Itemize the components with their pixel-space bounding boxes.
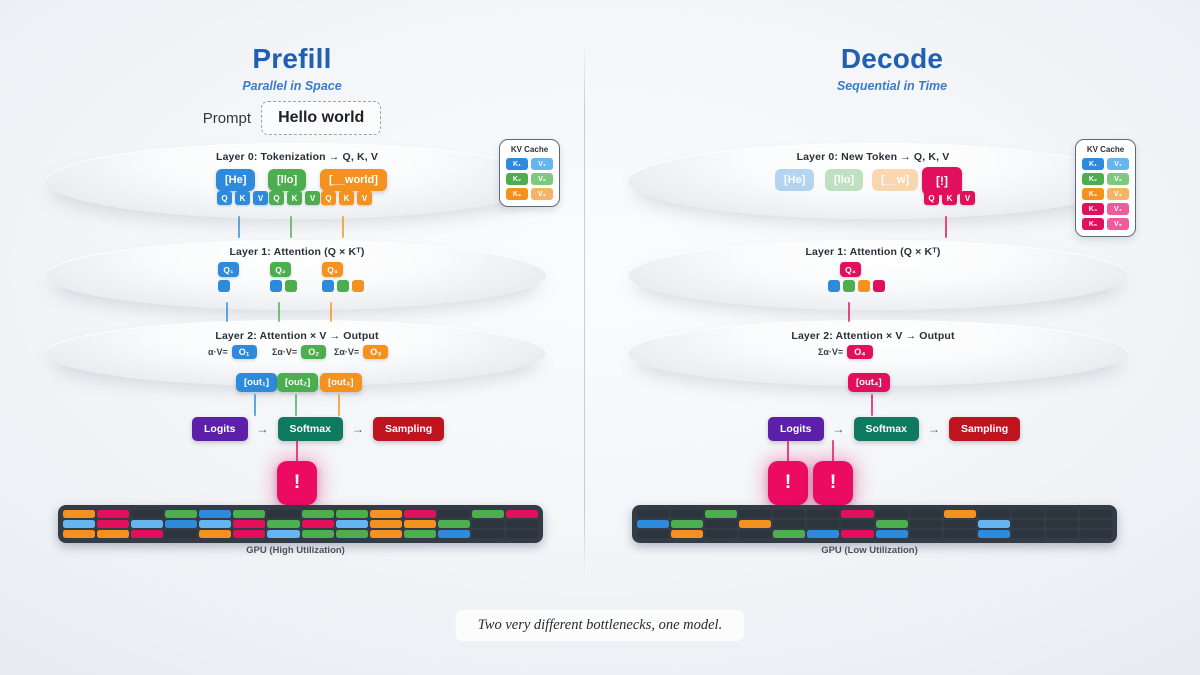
output-prefix-1: Σα·V= — [272, 347, 297, 357]
output-chip-new: O₄ — [847, 345, 872, 359]
gpu-column — [876, 510, 908, 538]
kv-cache-title: KV Cache — [1082, 145, 1129, 154]
gpu-cell — [131, 520, 163, 528]
gpu-cell — [267, 530, 299, 538]
gpu-cell — [807, 510, 839, 518]
gpu-cell — [978, 510, 1010, 518]
gpu-cell — [1012, 520, 1044, 528]
gpu-cell — [506, 530, 538, 538]
gpu-column — [131, 510, 163, 538]
gpu-cell — [506, 510, 538, 518]
past-token-2: [__w] — [872, 169, 918, 191]
attention-cell-new-1 — [843, 280, 855, 292]
gpu-cell — [370, 520, 402, 528]
kv-value-cell-0: V₁ — [531, 158, 553, 170]
gpu-cell — [336, 510, 368, 518]
gpu-cell — [978, 530, 1010, 538]
gpu-cell — [165, 510, 197, 518]
kv-value-cell-1: V₂ — [531, 173, 553, 185]
gpu-cell — [910, 530, 942, 538]
kv-key-cell-2: K₃ — [506, 188, 528, 200]
pipeline-softmax-button[interactable]: Softmax — [854, 417, 919, 441]
gpu-cell — [1046, 510, 1078, 518]
gpu-cell — [233, 520, 265, 528]
connector-out-1 — [295, 394, 297, 416]
gpu-cell — [910, 520, 942, 528]
gpu-column — [705, 510, 737, 538]
gpu-cell — [199, 530, 231, 538]
query-new: Q₄ — [840, 262, 861, 277]
qkv-v-new: V — [960, 191, 975, 205]
emitted-token-1: ! — [813, 461, 853, 505]
gpu-cell — [302, 510, 334, 518]
panel-divider — [584, 42, 585, 578]
gpu-label-decode: GPU (Low Utilization) — [620, 545, 1119, 556]
gpu-cell — [1046, 530, 1078, 538]
gpu-column — [1012, 510, 1044, 538]
connector-out-new — [871, 394, 873, 416]
gpu-column — [472, 510, 504, 538]
gpu-cell — [1012, 510, 1044, 518]
pipeline: Logits→Softmax→Sampling — [768, 417, 1020, 441]
footer-caption: Two very different bottlenecks, one mode… — [456, 610, 744, 641]
gpu-cell — [472, 520, 504, 528]
kv-value-cell-0: V₁ — [1107, 158, 1129, 170]
gpu-cell — [739, 510, 771, 518]
gpu-cell — [472, 530, 504, 538]
output-prefix-2: Σα·V= — [334, 347, 359, 357]
output-chip-0: O₁ — [232, 345, 257, 359]
gpu-cell — [165, 520, 197, 528]
gpu-column — [233, 510, 265, 538]
output-calc-0: α·V=O₁ — [208, 345, 257, 359]
attention-cell-new-3 — [873, 280, 885, 292]
qkv-k-1: K — [287, 191, 302, 205]
gpu-cell — [773, 510, 805, 518]
gpu-column — [302, 510, 334, 538]
gpu-cell — [131, 510, 163, 518]
query-0: Q₁ — [218, 262, 239, 277]
pipeline-arrow-1: → — [257, 422, 269, 436]
diagram-canvas: PrefillParallel in SpacePromptHello worl… — [0, 0, 1200, 675]
gpu-cell — [370, 510, 402, 518]
token-1[interactable]: [llo] — [268, 169, 306, 191]
connector-softmax-emit — [296, 440, 298, 462]
gpu-cell — [63, 530, 95, 538]
pipeline-sampling-button[interactable]: Sampling — [949, 417, 1020, 441]
gpu-cell — [1080, 520, 1112, 528]
attention-cell-2-1 — [337, 280, 349, 292]
qkv-k-new: K — [942, 191, 957, 205]
pipeline-sampling-button[interactable]: Sampling — [373, 417, 444, 441]
gpu-cell — [267, 520, 299, 528]
output-calc-2: Σα·V=O₃ — [334, 345, 388, 359]
token-2[interactable]: [__world] — [320, 169, 387, 191]
gpu-cell — [807, 520, 839, 528]
column-title-decode: Decode — [600, 43, 1184, 75]
gpu-cell — [944, 520, 976, 528]
gpu-column — [978, 510, 1010, 538]
gpu-cell — [506, 520, 538, 528]
gpu-column — [841, 510, 873, 538]
gpu-bar-prefill — [58, 505, 543, 543]
prompt-row: PromptHello world — [0, 101, 584, 135]
attention-cell-new-2 — [858, 280, 870, 292]
gpu-cell — [438, 520, 470, 528]
attention-cell-1-0 — [270, 280, 282, 292]
column-subtitle-prefill: Parallel in Space — [0, 79, 584, 93]
gpu-cell — [637, 530, 669, 538]
qkv-group-1: QKV — [269, 191, 320, 205]
kv-cache-row: K₁V₁ — [506, 158, 553, 170]
layer-caption-2: Layer 2: Attention × V → Output — [97, 330, 497, 342]
gpu-column — [438, 510, 470, 538]
pipeline-softmax-button[interactable]: Softmax — [278, 417, 343, 441]
attention-cell-0-0 — [218, 280, 230, 292]
gpu-label-prefill: GPU (High Utilization) — [46, 545, 545, 556]
kv-key-cell-1: K₂ — [1082, 173, 1104, 185]
output-prefix-new: Σα·V= — [818, 347, 843, 357]
qkv-group-2: QKV — [321, 191, 372, 205]
gpu-column — [165, 510, 197, 538]
gpu-column — [199, 510, 231, 538]
gpu-cell — [671, 530, 703, 538]
kv-key-cell-0: K₁ — [506, 158, 528, 170]
connector-l1-2 — [330, 302, 332, 322]
gpu-cell — [978, 520, 1010, 528]
qkv-group-new: QKV — [924, 191, 975, 205]
gpu-column — [910, 510, 942, 538]
qkv-q-0: Q — [217, 191, 232, 205]
gpu-column — [336, 510, 368, 538]
gpu-cell — [841, 520, 873, 528]
gpu-column — [97, 510, 129, 538]
layer-caption-1: Layer 1: Attention (Q × Kᵀ) — [97, 246, 497, 258]
connector-l1-0 — [226, 302, 228, 322]
gpu-column — [1046, 510, 1078, 538]
kv-value-cell-4: V₅ — [1107, 218, 1129, 230]
gpu-column — [671, 510, 703, 538]
connector-l0-2 — [342, 216, 344, 238]
pipeline-logits-button[interactable]: Logits — [192, 417, 248, 441]
gpu-cell — [336, 520, 368, 528]
gpu-column — [1080, 510, 1112, 538]
gpu-cell — [302, 520, 334, 528]
qkv-group-0: QKV — [217, 191, 268, 205]
gpu-cell — [63, 520, 95, 528]
out-token-2[interactable]: [out₃] — [320, 373, 362, 392]
qkv-q-2: Q — [321, 191, 336, 205]
token-0[interactable]: [He] — [216, 169, 255, 191]
gpu-cell — [910, 510, 942, 518]
gpu-cell — [472, 510, 504, 518]
gpu-cell — [876, 530, 908, 538]
attention-squares-new — [828, 280, 885, 292]
kv-cache-row: K₃V₃ — [506, 188, 553, 200]
output-calc-new: Σα·V=O₄ — [818, 345, 873, 359]
gpu-column — [739, 510, 771, 538]
connector-emit-1 — [832, 440, 834, 462]
pipeline-arrow-2: → — [352, 422, 364, 436]
gpu-cell — [739, 530, 771, 538]
attention-cell-2-2 — [352, 280, 364, 292]
gpu-column — [404, 510, 436, 538]
attention-cell-2-0 — [322, 280, 334, 292]
gpu-cell — [267, 510, 299, 518]
gpu-column — [773, 510, 805, 538]
layer-caption-1: Layer 1: Attention (Q × Kᵀ) — [673, 246, 1073, 258]
attention-squares-1 — [270, 280, 297, 292]
kv-cache-row: K₅V₅ — [1082, 218, 1129, 230]
attention-cell-new-0 — [828, 280, 840, 292]
gpu-column — [370, 510, 402, 538]
gpu-cell — [404, 520, 436, 528]
gpu-cell — [773, 520, 805, 528]
kv-cache-row: K₂V₂ — [1082, 173, 1129, 185]
decode-panel: DecodeSequential in TimeLayer 0: New Tok… — [600, 0, 1184, 675]
connector-emit-0 — [787, 440, 789, 462]
gpu-cell — [944, 530, 976, 538]
gpu-cell — [438, 530, 470, 538]
gpu-cell — [63, 510, 95, 518]
past-token-0: [He] — [775, 169, 814, 191]
connector-l0-0 — [238, 216, 240, 238]
pipeline: Logits→Softmax→Sampling — [192, 417, 444, 441]
gpu-cell — [944, 510, 976, 518]
qkv-k-2: K — [339, 191, 354, 205]
output-chip-2: O₃ — [363, 345, 388, 359]
gpu-cell — [165, 530, 197, 538]
kv-cache-row: K₂V₂ — [506, 173, 553, 185]
kv-value-cell-2: V₃ — [531, 188, 553, 200]
gpu-cell — [876, 520, 908, 528]
qkv-v-1: V — [305, 191, 320, 205]
out-token-0[interactable]: [out₁] — [236, 373, 277, 392]
connector-l0-1 — [290, 216, 292, 238]
kv-key-cell-4: K₅ — [1082, 218, 1104, 230]
gpu-column — [267, 510, 299, 538]
gpu-cell — [671, 510, 703, 518]
gpu-column — [807, 510, 839, 538]
gpu-cell — [404, 510, 436, 518]
qkv-v-0: V — [253, 191, 268, 205]
gpu-cell — [199, 520, 231, 528]
kv-key-cell-3: K₄ — [1082, 203, 1104, 215]
gpu-cell — [131, 530, 163, 538]
attention-cell-1-1 — [285, 280, 297, 292]
gpu-column — [944, 510, 976, 538]
kv-cache-decode: KV CacheK₁V₁K₂V₂K₃V₃K₄V₄K₅V₅ — [1075, 139, 1136, 237]
kv-cache-row: K₁V₁ — [1082, 158, 1129, 170]
column-title-prefill: Prefill — [0, 43, 584, 75]
gpu-cell — [1012, 530, 1044, 538]
out-token-new[interactable]: [out₄] — [848, 373, 890, 392]
gpu-cell — [233, 530, 265, 538]
gpu-cell — [233, 510, 265, 518]
gpu-cell — [370, 530, 402, 538]
pipeline-arrow-2: → — [928, 422, 940, 436]
query-1: Q₂ — [270, 262, 291, 277]
prefill-panel: PrefillParallel in SpacePromptHello worl… — [0, 0, 584, 675]
output-chip-1: O₂ — [301, 345, 326, 359]
emitted-token-0: ! — [768, 461, 808, 505]
emitted-token-0: ! — [277, 461, 317, 505]
gpu-cell — [438, 510, 470, 518]
attention-squares-2 — [322, 280, 364, 292]
gpu-cell — [705, 510, 737, 518]
kv-key-cell-1: K₂ — [506, 173, 528, 185]
connector-l0-new — [945, 216, 947, 238]
gpu-cell — [302, 530, 334, 538]
kv-cache-row: K₃V₃ — [1082, 188, 1129, 200]
gpu-cell — [807, 530, 839, 538]
gpu-cell — [97, 520, 129, 528]
layer-caption-2: Layer 2: Attention × V → Output — [673, 330, 1073, 342]
layer-caption-0: Layer 0: New Token → Q, K, V — [673, 151, 1073, 163]
connector-out-0 — [254, 394, 256, 416]
out-token-1[interactable]: [out₂] — [277, 373, 318, 392]
gpu-column — [637, 510, 669, 538]
connector-out-2 — [338, 394, 340, 416]
gpu-cell — [199, 510, 231, 518]
kv-value-cell-1: V₂ — [1107, 173, 1129, 185]
past-token-1: [llo] — [825, 169, 863, 191]
gpu-column — [63, 510, 95, 538]
kv-cache-prefill: KV CacheK₁V₁K₂V₂K₃V₃ — [499, 139, 560, 207]
gpu-cell — [773, 530, 805, 538]
gpu-bar-decode — [632, 505, 1117, 543]
kv-value-cell-3: V₄ — [1107, 203, 1129, 215]
gpu-cell — [336, 530, 368, 538]
gpu-cell — [1080, 510, 1112, 518]
connector-l1-1 — [278, 302, 280, 322]
kv-key-cell-0: K₁ — [1082, 158, 1104, 170]
qkv-v-2: V — [357, 191, 372, 205]
gpu-cell — [876, 510, 908, 518]
gpu-cell — [637, 510, 669, 518]
qkv-q-1: Q — [269, 191, 284, 205]
output-prefix-0: α·V= — [208, 347, 228, 357]
kv-value-cell-2: V₃ — [1107, 188, 1129, 200]
layer-caption-0: Layer 0: Tokenization → Q, K, V — [97, 151, 497, 163]
pipeline-arrow-1: → — [833, 422, 845, 436]
gpu-cell — [97, 510, 129, 518]
gpu-cell — [671, 520, 703, 528]
gpu-cell — [637, 520, 669, 528]
connector-l1-new — [848, 302, 850, 322]
gpu-cell — [739, 520, 771, 528]
query-2: Q₃ — [322, 262, 343, 277]
kv-cache-title: KV Cache — [506, 145, 553, 154]
kv-cache-row: K₄V₄ — [1082, 203, 1129, 215]
qkv-q-new: Q — [924, 191, 939, 205]
prompt-label: Prompt — [203, 110, 251, 127]
gpu-cell — [1046, 520, 1078, 528]
column-subtitle-decode: Sequential in Time — [600, 79, 1184, 93]
gpu-cell — [97, 530, 129, 538]
gpu-cell — [841, 530, 873, 538]
kv-key-cell-2: K₃ — [1082, 188, 1104, 200]
gpu-cell — [705, 530, 737, 538]
gpu-column — [506, 510, 538, 538]
gpu-cell — [705, 520, 737, 528]
qkv-k-0: K — [235, 191, 250, 205]
pipeline-logits-button[interactable]: Logits — [768, 417, 824, 441]
gpu-cell — [404, 530, 436, 538]
prompt-input[interactable]: Hello world — [261, 101, 381, 135]
gpu-cell — [841, 510, 873, 518]
gpu-cell — [1080, 530, 1112, 538]
output-calc-1: Σα·V=O₂ — [272, 345, 326, 359]
attention-squares-0 — [218, 280, 230, 292]
